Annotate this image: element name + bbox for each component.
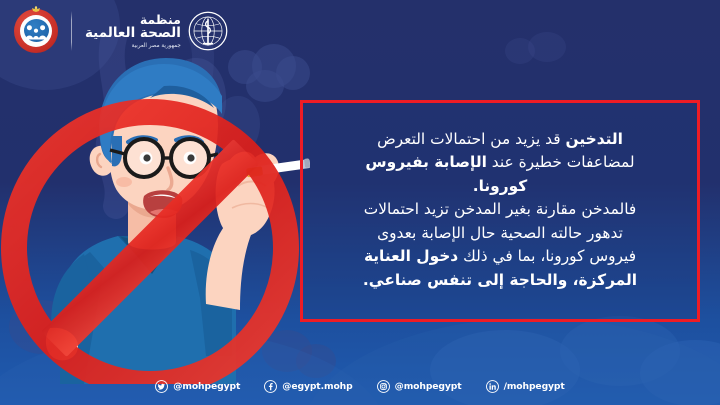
family-figures-icon [24,23,48,40]
twitter-handle: @mohpegypt [173,381,240,392]
social-link-instagram[interactable]: @mohpegypt [377,380,462,393]
msg-line2-bold: الإصابة بفيروس [365,153,486,171]
instagram-icon [377,380,390,393]
who-title-line2: الصحة العالمية [85,26,181,40]
facebook-icon [264,380,277,393]
social-link-facebook[interactable]: @egypt.mohp [264,380,352,393]
msg-line6-bold: دخول العناية [364,247,458,265]
twitter-icon [155,380,168,393]
linkedin-handle: /mohpegypt [504,381,565,392]
social-media-bar: @mohpegypt @egypt.mohp @mohpegypt [0,373,720,399]
msg-line6-rest: فيروس كورونا، بما في ذلك [458,247,636,265]
msg-line7-bold: المركزة، والحاجة إلى تنفس صناعي. [363,271,637,289]
msg-line3-bold: كورونا. [473,177,527,195]
instagram-handle: @mohpegypt [395,381,462,392]
infographic-poster: وزارة الصحة منظمة الصحة العالمية جمهورية… [0,0,720,405]
linkedin-icon [486,380,499,393]
smoker-with-no-smoking-sign [0,36,310,384]
warning-message-text: التدخين قد يزيد من احتمالات التعرض لمضاع… [303,124,697,298]
msg-line5: تدهور حالته الصحية حال الإصابة بعدوى [317,222,683,245]
msg-line1-rest: قد يزيد من احتمالات التعرض [377,130,565,148]
header-bar: وزارة الصحة منظمة الصحة العالمية جمهورية… [0,0,720,62]
egypt-ministry-of-health-logo: وزارة الصحة [14,9,58,53]
warning-message-box: التدخين قد يزيد من احتمالات التعرض لمضاع… [300,100,700,322]
who-logo: منظمة الصحة العالمية جمهورية مصر العربية [85,11,228,51]
msg-line1-bold: التدخين [565,130,622,148]
who-emblem-icon [188,11,228,51]
msg-line2-rest: لمضاعفات خطيرة عند [487,153,635,171]
logo-ribbon: وزارة الصحة [21,43,51,51]
header-divider [71,11,72,51]
who-subtitle: جمهورية مصر العربية [85,43,181,49]
facebook-handle: @egypt.mohp [282,381,352,392]
msg-line4: فالمدخن مقارنة بغير المدخن تزيد احتمالات [317,198,683,221]
social-link-linkedin[interactable]: /mohpegypt [486,380,565,393]
social-link-twitter[interactable]: @mohpegypt [155,380,240,393]
